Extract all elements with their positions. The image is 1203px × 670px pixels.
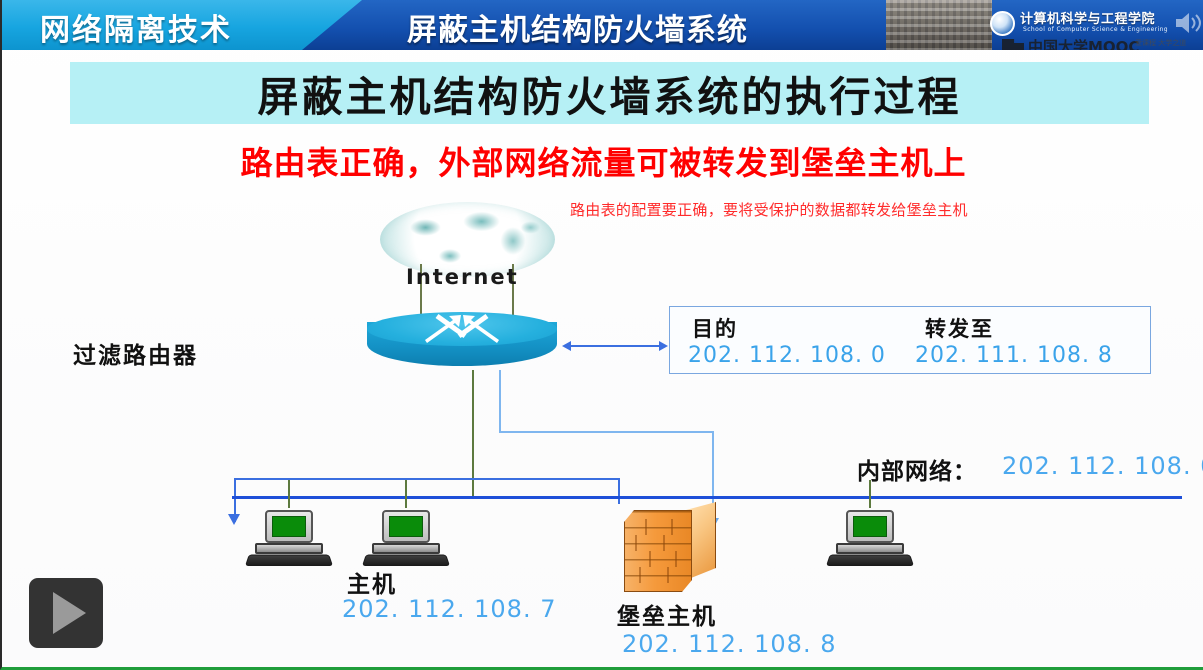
- host-inbound-arrow: [228, 514, 240, 525]
- course-title: 网络隔离技术: [40, 5, 232, 49]
- play-button[interactable]: [29, 578, 103, 648]
- computer-drop-line: [869, 480, 871, 508]
- bastion-label: 堡垒主机: [617, 597, 717, 631]
- routing-table-header-destination: 目的: [692, 313, 738, 343]
- bastion-feed-down: [618, 478, 620, 504]
- computer-case: [836, 543, 904, 554]
- lesson-title: 屏蔽主机结构防火墙系统: [407, 5, 748, 49]
- page-title: 屏蔽主机结构防火墙系统的执行过程: [258, 63, 962, 123]
- play-icon: [53, 592, 86, 634]
- screen: [389, 516, 423, 537]
- computer-drop-line: [405, 480, 407, 508]
- bastion-address: 202. 112. 108. 8: [622, 630, 836, 658]
- keyboard: [826, 555, 914, 566]
- monitor: [846, 510, 894, 543]
- mooc-logo-icon: [1002, 39, 1024, 51]
- building-icon: [886, 0, 992, 50]
- routing-table-value-forward: 202. 111. 108. 8: [915, 343, 1113, 368]
- red-annotation: 路由表的配置要正确，要将受保护的数据都转发给堡垒主机: [570, 199, 968, 220]
- mooc-watermark-text: 中国大学MOOC: [1028, 36, 1139, 50]
- internet-label: Internet: [406, 265, 519, 289]
- router-label: 过滤路由器: [73, 336, 198, 370]
- computer-icon-right: [828, 508, 912, 568]
- routing-table: 目的 转发至 202. 112. 108. 0 202. 111. 108. 8: [669, 306, 1151, 374]
- slide-title-band: 屏蔽主机结构防火墙系统的执行过程: [70, 62, 1149, 124]
- routing-table-header-forward: 转发至: [925, 313, 994, 343]
- internal-network-bus: [232, 496, 1182, 499]
- router-table-arrow-right: [659, 341, 668, 351]
- computer-case: [372, 543, 440, 554]
- speaker-icon: [1173, 9, 1203, 37]
- school-name-en: School of Computer Science & Engineering: [1023, 26, 1168, 33]
- slide-canvas: 网络隔离技术 屏蔽主机结构防火墙系统 计算机科学与工程学院 School of …: [0, 0, 1203, 670]
- school-name-cn: 计算机科学与工程学院: [1020, 8, 1155, 27]
- host-address: 202. 112. 108. 7: [342, 595, 556, 623]
- keyboard: [245, 555, 333, 566]
- filtering-router-icon: [367, 312, 557, 372]
- computer-icon: [247, 508, 331, 568]
- mooc-watermark-sub: 爱课程 大学之道: [1135, 38, 1186, 48]
- firewall-front: [624, 510, 692, 592]
- computer-icon-host: [364, 508, 448, 568]
- computer-drop-line: [288, 480, 290, 508]
- monitor: [382, 510, 430, 543]
- internal-network-address: 202. 112. 108. 0: [1002, 452, 1203, 480]
- monitor: [265, 510, 313, 543]
- course-header: 网络隔离技术 屏蔽主机结构防火墙系统 计算机科学与工程学院 School of …: [2, 0, 1203, 50]
- router-branch-down-1: [499, 370, 501, 433]
- router-arrows-icon: [419, 314, 505, 344]
- router-table-arrow-left: [562, 341, 571, 351]
- computer-case: [255, 543, 323, 554]
- host-feed-across: [234, 478, 620, 480]
- internal-network-label: 内部网络：: [857, 452, 977, 486]
- host-label: 主机: [347, 565, 397, 599]
- screen: [272, 516, 306, 537]
- slide-subtitle: 路由表正确，外部网络流量可被转发到堡垒主机上: [2, 138, 1203, 184]
- mooc-watermark: 中国大学MOOC: [1002, 36, 1139, 50]
- router-branch-right: [499, 431, 714, 433]
- screen: [853, 516, 887, 537]
- routing-table-value-destination: 202. 112. 108. 0: [688, 343, 886, 368]
- firewall-icon: [624, 500, 720, 592]
- router-table-link: [570, 345, 666, 347]
- school-logo-icon: [990, 11, 1015, 36]
